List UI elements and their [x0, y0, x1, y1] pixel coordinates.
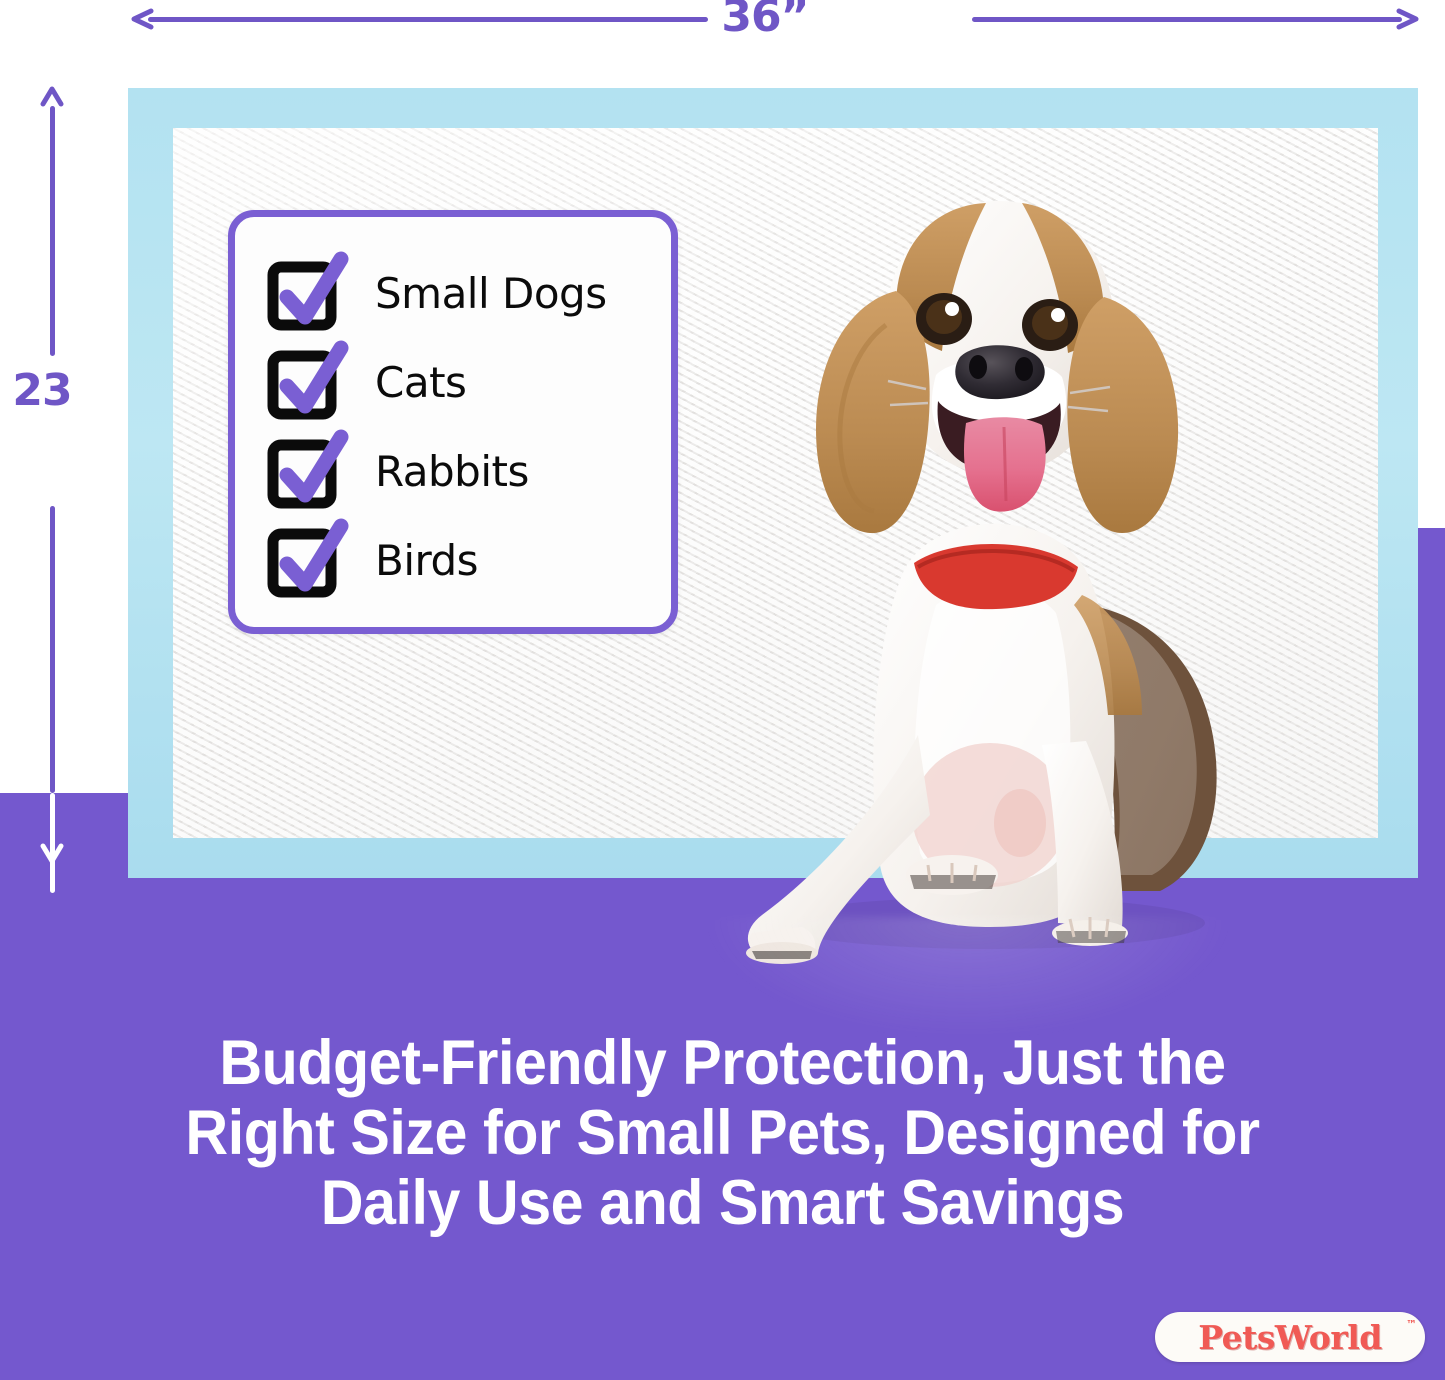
brand-logo: PetsWorld ™ [1155, 1312, 1425, 1362]
checkbox-checked-icon [271, 261, 337, 327]
checklist-item: Birds [271, 524, 478, 598]
checkbox-checked-icon [271, 528, 337, 594]
checklist-item-label: Rabbits [375, 450, 529, 494]
arrow-right-icon [1394, 8, 1420, 30]
headline-line-3: Daily Use and Smart Savings [100, 1168, 1346, 1238]
marketing-headline: Budget-Friendly Protection, Just the Rig… [100, 1028, 1346, 1238]
arrow-down-icon [39, 842, 65, 864]
checkbox-checked-icon [271, 439, 337, 505]
headline-line-2: Right Size for Small Pets, Designed for [100, 1098, 1346, 1168]
checklist-item: Cats [271, 346, 466, 420]
arrow-up-icon [39, 86, 65, 108]
dimension-line-right [972, 17, 1402, 22]
purple-band-right [1418, 528, 1445, 1380]
dog-photo [690, 175, 1290, 985]
width-dimension-label: 36” [700, 0, 830, 40]
checkbox-checked-icon [271, 350, 337, 416]
dog-reflection [708, 917, 1228, 1037]
height-dimension [41, 86, 63, 876]
checklist-item: Rabbits [271, 435, 529, 509]
brand-logo-text: PetsWorld [1198, 1321, 1382, 1354]
trademark-symbol: ™ [1406, 1318, 1417, 1331]
compatible-pets-checklist: Small Dogs Cats Rabbits [228, 210, 678, 634]
product-marketing-image: Small Dogs Cats Rabbits [0, 0, 1445, 1380]
checklist-item-label: Cats [375, 361, 466, 405]
checklist-item-label: Small Dogs [375, 272, 607, 316]
dimension-line-bottom [50, 506, 55, 793]
checklist-item-label: Birds [375, 539, 478, 583]
headline-line-1: Budget-Friendly Protection, Just the [100, 1028, 1346, 1098]
dimension-line-top [50, 106, 55, 356]
checklist-item: Small Dogs [271, 257, 607, 331]
height-dimension-label: 23 [6, 368, 78, 414]
dimension-line-left [148, 17, 708, 22]
beagle-illustration [690, 175, 1290, 985]
